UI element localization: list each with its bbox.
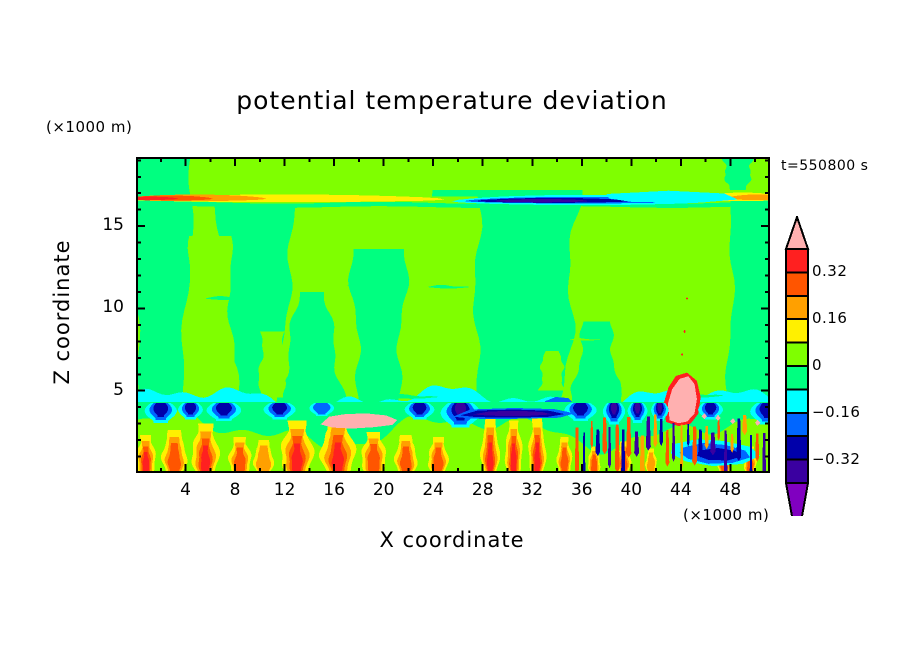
colorbar-tick-label-2: 0	[812, 356, 822, 374]
y-tick-label-1: 10	[84, 297, 124, 317]
x-tick-label-10: 44	[661, 480, 701, 500]
x-axis-units-label: (×1000 m)	[683, 506, 769, 524]
y-axis-title: Z coordinate	[50, 217, 74, 407]
x-axis-title: X coordinate	[0, 528, 904, 552]
page-title: potential temperature deviation	[0, 86, 904, 115]
x-tick-label-4: 20	[364, 480, 404, 500]
x-tick-label-1: 8	[215, 480, 255, 500]
x-tick-label-6: 28	[463, 480, 503, 500]
y-tick-label-2: 15	[84, 215, 124, 235]
z-axis-units-label: (×1000 m)	[46, 118, 132, 136]
x-tick-label-8: 36	[562, 480, 602, 500]
y-tick-label-0: 5	[84, 380, 124, 400]
contour-plot-field	[136, 157, 770, 473]
x-tick-label-11: 48	[710, 480, 750, 500]
colorbar-tick-label-1: 0.16	[812, 309, 847, 327]
colorbar-tick-label-0: 0.32	[812, 262, 847, 280]
x-tick-label-5: 24	[413, 480, 453, 500]
x-tick-label-2: 12	[265, 480, 305, 500]
x-tick-label-7: 32	[512, 480, 552, 500]
x-tick-label-9: 40	[611, 480, 651, 500]
x-tick-label-3: 16	[314, 480, 354, 500]
colorbar-tick-label-4: −0.32	[812, 450, 860, 468]
timestamp-annotation: t=550800 s	[781, 158, 868, 174]
colorbar-tick-label-3: −0.16	[812, 403, 860, 421]
x-tick-label-0: 4	[166, 480, 206, 500]
